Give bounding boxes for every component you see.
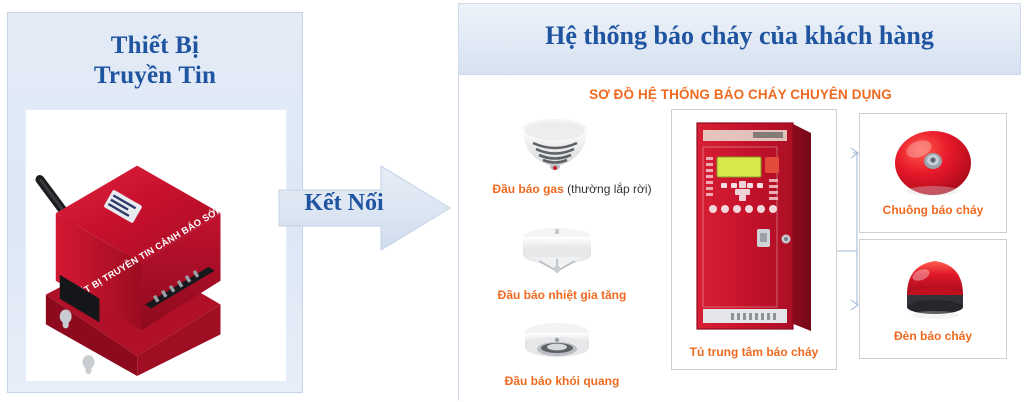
transmitter-device-illustration: THIẾT BỊ TRUYỀN TIN CẢNH BÁO SỚM bbox=[26, 110, 286, 381]
gas-detector-label-note: (thường lắp rời) bbox=[567, 182, 651, 196]
control-panel-label: Tủ trung tâm báo cháy bbox=[671, 345, 837, 359]
gas-detector-icon bbox=[503, 115, 607, 181]
customer-fire-alarm-panel: Hệ thống báo cháy của khách hàng SƠ ĐỒ H… bbox=[458, 3, 1021, 401]
alarm-bell-icon bbox=[891, 123, 975, 199]
alarm-strobe-label: Đèn báo cháy bbox=[859, 329, 1007, 343]
transmitter-title-line1: Thiết Bị bbox=[8, 31, 302, 61]
alarm-strobe-light-icon bbox=[897, 251, 973, 323]
connection-label: Kết Nối bbox=[285, 190, 403, 217]
transmitter-panel: Thiết Bị Truyền Tin bbox=[7, 12, 303, 393]
connection-arrow: Kết Nối bbox=[277, 162, 452, 254]
alarm-bell-label: Chuông báo cháy bbox=[859, 203, 1007, 217]
smoke-detector-label: Đầu báo khói quang bbox=[467, 374, 657, 388]
heat-detector-icon bbox=[505, 225, 609, 283]
gas-detector-label: Đầu báo gas (thường lắp rời) bbox=[467, 182, 677, 196]
transmitter-title-line2: Truyền Tin bbox=[8, 61, 302, 91]
diagram-title: SƠ ĐỒ HỆ THỐNG BÁO CHÁY CHUYÊN DỤNG bbox=[459, 87, 1022, 102]
gas-detector-label-main: Đầu báo gas bbox=[492, 182, 563, 196]
transmitter-title: Thiết Bị Truyền Tin bbox=[8, 31, 302, 90]
transmitter-device-photo: THIẾT BỊ TRUYỀN TIN CẢNH BÁO SỚM bbox=[25, 109, 287, 382]
slide-canvas: Thiết Bị Truyền Tin bbox=[0, 0, 1024, 401]
heat-detector-label: Đầu báo nhiệt gia tăng bbox=[467, 288, 657, 302]
fire-alarm-control-panel-icon bbox=[691, 117, 817, 341]
customer-panel-title: Hệ thống báo cháy của khách hàng bbox=[459, 21, 1020, 51]
fire-alarm-diagram: SƠ ĐỒ HỆ THỐNG BÁO CHÁY CHUYÊN DỤNG bbox=[459, 75, 1022, 402]
smoke-detector-icon bbox=[505, 315, 609, 373]
